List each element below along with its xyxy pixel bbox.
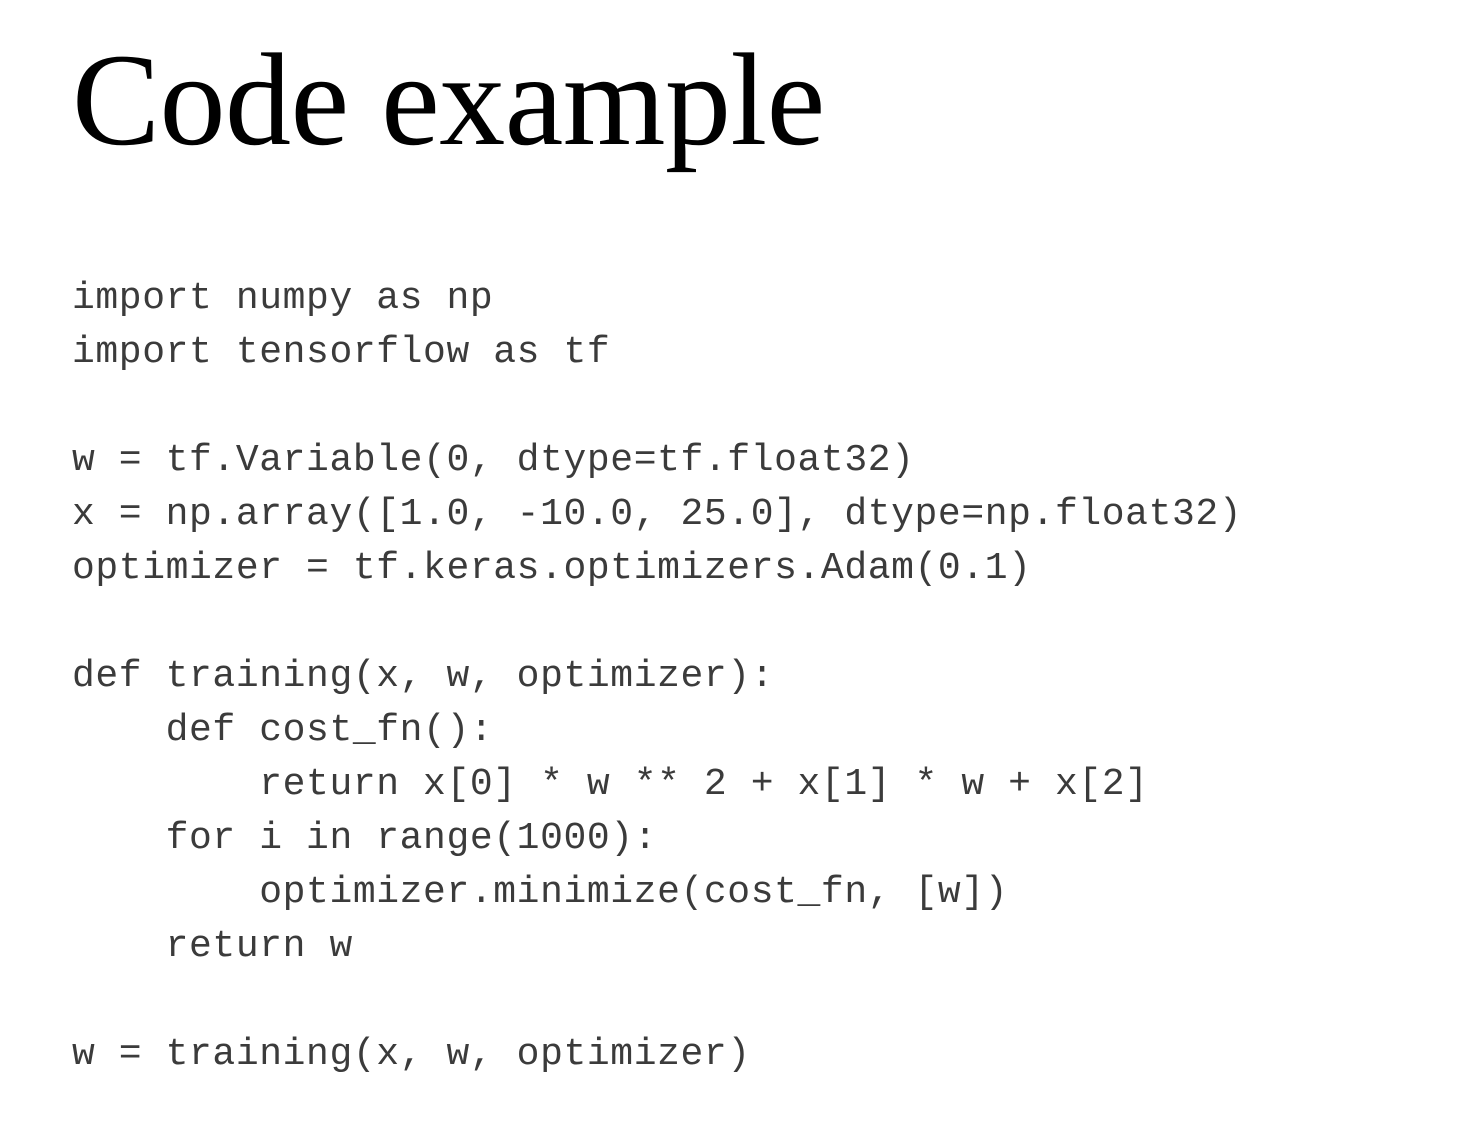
page-title: Code example: [72, 34, 825, 166]
code-line: def cost_fn():: [72, 704, 1432, 758]
code-line: w = tf.Variable(0, dtype=tf.float32): [72, 434, 1432, 488]
code-line-blank: [72, 974, 1432, 1028]
code-line: w = training(x, w, optimizer): [72, 1028, 1432, 1082]
code-line-blank: [72, 380, 1432, 434]
code-line: return w: [72, 920, 1432, 974]
code-line: import numpy as np: [72, 272, 1432, 326]
code-line-blank: [72, 596, 1432, 650]
code-line: return x[0] * w ** 2 + x[1] * w + x[2]: [72, 758, 1432, 812]
code-block: import numpy as npimport tensorflow as t…: [72, 272, 1432, 1082]
code-line: import tensorflow as tf: [72, 326, 1432, 380]
code-line: optimizer.minimize(cost_fn, [w]): [72, 866, 1432, 920]
code-line: def training(x, w, optimizer):: [72, 650, 1432, 704]
code-line: for i in range(1000):: [72, 812, 1432, 866]
slide: Code example import numpy as npimport te…: [0, 0, 1476, 1144]
code-line: x = np.array([1.0, -10.0, 25.0], dtype=n…: [72, 488, 1432, 542]
code-line: optimizer = tf.keras.optimizers.Adam(0.1…: [72, 542, 1432, 596]
